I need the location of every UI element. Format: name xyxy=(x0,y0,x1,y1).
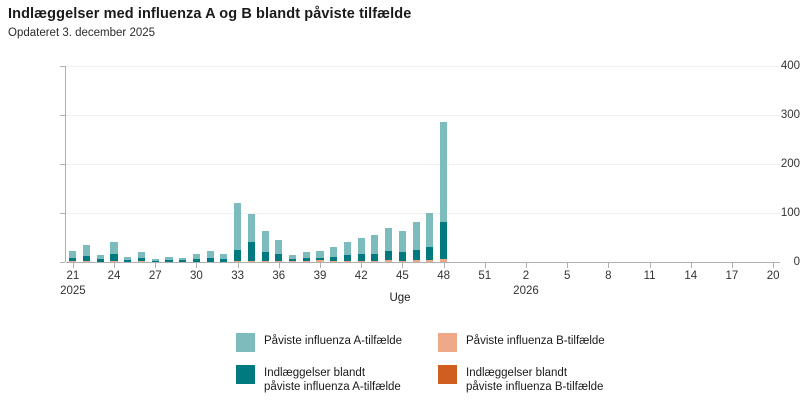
chart-legend: Påviste influenza A-tilfældePåviste infl… xyxy=(236,333,676,403)
bar-segment-flu-a-cases[interactable] xyxy=(83,245,90,256)
page-title: Indlæggelser med influenza A og B blandt… xyxy=(8,6,411,22)
bar-segment-flu-a-cases[interactable] xyxy=(220,254,227,259)
x-tick-mark xyxy=(114,263,115,268)
bar-segment-flu-a-cases[interactable] xyxy=(234,203,241,250)
bar-segment-flu-a-cases[interactable] xyxy=(330,247,337,256)
bar-segment-flu-a-cases[interactable] xyxy=(152,259,159,260)
bar-segment-flu-a-hospitalizations[interactable] xyxy=(83,256,90,261)
bar-group[interactable] xyxy=(330,66,337,262)
bar-segment-flu-a-cases[interactable] xyxy=(275,240,282,254)
bars-layer xyxy=(66,66,780,262)
gridline xyxy=(66,164,780,165)
x-tick-label: 27 xyxy=(149,270,162,282)
bar-segment-flu-a-cases[interactable] xyxy=(248,214,255,242)
bar-segment-flu-a-hospitalizations[interactable] xyxy=(193,259,200,262)
x-tick-label: 20 xyxy=(767,270,780,282)
bar-segment-flu-a-hospitalizations[interactable] xyxy=(207,258,214,261)
x-tick-mark xyxy=(444,263,445,268)
bar-segment-flu-b-cases[interactable] xyxy=(344,261,351,262)
bar-segment-flu-a-cases[interactable] xyxy=(69,251,76,258)
x-tick-mark xyxy=(650,263,651,268)
legend-label: Påviste influenza A-tilfælde xyxy=(264,333,402,349)
bar-segment-flu-a-hospitalizations[interactable] xyxy=(426,247,433,260)
bar-segment-flu-a-cases[interactable] xyxy=(110,242,117,254)
x-tick-mark xyxy=(73,263,74,268)
bar-group[interactable] xyxy=(179,66,186,262)
bar-segment-flu-a-cases[interactable] xyxy=(179,258,186,260)
y-tick-mark xyxy=(60,115,65,116)
bar-segment-flu-a-cases[interactable] xyxy=(440,122,447,222)
bar-segment-flu-a-hospitalizations[interactable] xyxy=(399,252,406,260)
bar-segment-flu-b-cases[interactable] xyxy=(358,261,365,262)
bar-segment-flu-a-cases[interactable] xyxy=(193,254,200,259)
y-tick-mark xyxy=(60,213,65,214)
bar-segment-flu-b-cases[interactable] xyxy=(399,261,406,262)
bar-segment-flu-a-hospitalizations[interactable] xyxy=(358,254,365,261)
bar-segment-flu-a-cases[interactable] xyxy=(385,228,392,251)
bar-segment-flu-b-cases[interactable] xyxy=(83,261,90,262)
bar-segment-flu-a-hospitalizations[interactable] xyxy=(330,257,337,261)
x-tick-mark xyxy=(196,263,197,268)
x-tick-label: 5 xyxy=(564,270,570,282)
bar-segment-flu-a-hospitalizations[interactable] xyxy=(413,250,420,260)
legend-swatch-icon xyxy=(236,365,255,384)
bar-segment-flu-a-hospitalizations[interactable] xyxy=(124,260,131,262)
bar-group[interactable] xyxy=(275,66,282,262)
gridline xyxy=(66,115,780,116)
x-tick-mark xyxy=(155,263,156,268)
bar-segment-flu-a-hospitalizations[interactable] xyxy=(97,259,104,261)
bar-segment-flu-b-cases[interactable] xyxy=(440,259,447,262)
x-tick-mark xyxy=(732,263,733,268)
bar-segment-flu-a-cases[interactable] xyxy=(399,231,406,253)
y-tick-mark xyxy=(60,164,65,165)
x-tick-label: 17 xyxy=(726,270,739,282)
x-tick-label: 45 xyxy=(396,270,409,282)
x-tick-label: 51 xyxy=(478,270,491,282)
legend-item[interactable]: Påviste influenza A-tilfælde xyxy=(236,333,402,352)
x-tick-mark xyxy=(238,263,239,268)
bar-group[interactable] xyxy=(303,66,310,262)
legend-swatch-icon xyxy=(438,365,457,384)
bar-segment-flu-a-cases[interactable] xyxy=(426,213,433,247)
bar-segment-flu-b-cases[interactable] xyxy=(110,261,117,262)
gridline xyxy=(66,66,780,67)
x-tick-label: 42 xyxy=(355,270,368,282)
bar-segment-flu-a-hospitalizations[interactable] xyxy=(179,260,186,261)
bar-segment-flu-a-cases[interactable] xyxy=(165,257,172,260)
legend-label: Indlæggelser blandt påviste influenza A-… xyxy=(264,365,401,394)
bar-segment-flu-b-cases[interactable] xyxy=(385,260,392,262)
x-axis-line xyxy=(66,262,780,263)
bar-segment-flu-a-hospitalizations[interactable] xyxy=(289,259,296,261)
bar-group[interactable] xyxy=(69,66,76,262)
x-tick-label: 48 xyxy=(437,270,450,282)
x-tick-mark xyxy=(567,263,568,268)
bar-group[interactable] xyxy=(289,66,296,262)
x-tick-label: 24 xyxy=(108,270,121,282)
bar-segment-flu-b-cases[interactable] xyxy=(289,261,296,262)
x-tick-label: 11 xyxy=(644,270,656,282)
x-tick-mark xyxy=(773,263,774,268)
y-tick-mark xyxy=(60,262,65,263)
x-tick-mark xyxy=(691,263,692,268)
bar-group[interactable] xyxy=(262,66,269,262)
bar-segment-flu-b-cases[interactable] xyxy=(316,260,323,262)
x-tick-label: 8 xyxy=(605,270,611,282)
bar-segment-flu-a-cases[interactable] xyxy=(358,238,365,254)
bar-group[interactable] xyxy=(124,66,131,262)
bar-group[interactable] xyxy=(220,66,227,262)
bar-segment-flu-a-hospitalizations[interactable] xyxy=(110,254,117,260)
bar-segment-flu-a-cases[interactable] xyxy=(413,222,420,249)
bar-segment-flu-a-hospitalizations[interactable] xyxy=(234,250,241,261)
bar-segment-flu-a-hospitalizations[interactable] xyxy=(385,251,392,260)
x-tick-mark xyxy=(608,263,609,268)
bar-segment-flu-a-hospitalizations[interactable] xyxy=(138,258,145,261)
legend-item[interactable]: Indlæggelser blandt påviste influenza A-… xyxy=(236,365,401,394)
bar-segment-flu-a-cases[interactable] xyxy=(138,252,145,258)
bar-group[interactable] xyxy=(440,66,447,262)
bar-segment-flu-b-cases[interactable] xyxy=(371,261,378,262)
bar-segment-flu-b-cases[interactable] xyxy=(413,260,420,262)
bar-group[interactable] xyxy=(413,66,420,262)
bar-group[interactable] xyxy=(399,66,406,262)
bar-group[interactable] xyxy=(193,66,200,262)
bar-segment-flu-a-hospitalizations[interactable] xyxy=(165,260,172,261)
x-tick-mark xyxy=(485,263,486,268)
bar-group[interactable] xyxy=(358,66,365,262)
bar-segment-flu-a-hospitalizations[interactable] xyxy=(248,242,255,261)
x-tick-label: 36 xyxy=(272,270,285,282)
bar-group[interactable] xyxy=(207,66,214,262)
x-tick-mark xyxy=(526,263,527,268)
bar-segment-flu-a-hospitalizations[interactable] xyxy=(275,254,282,261)
bar-group[interactable] xyxy=(165,66,172,262)
x-tick-mark xyxy=(402,263,403,268)
bar-group[interactable] xyxy=(385,66,392,262)
x-tick-label: 39 xyxy=(314,270,327,282)
y-tick-mark xyxy=(60,66,65,67)
legend-item[interactable]: Indlæggelser blandt påviste influenza B-… xyxy=(438,365,603,394)
bar-group[interactable] xyxy=(110,66,117,262)
legend-swatch-icon xyxy=(236,333,255,352)
bar-segment-flu-a-hospitalizations[interactable] xyxy=(344,255,351,260)
bar-segment-flu-a-hospitalizations[interactable] xyxy=(69,258,76,261)
bar-group[interactable] xyxy=(152,66,159,262)
x-tick-label: 14 xyxy=(684,270,697,282)
bar-segment-flu-a-cases[interactable] xyxy=(344,242,351,255)
x-tick-mark xyxy=(361,263,362,268)
legend-item[interactable]: Påviste influenza B-tilfælde xyxy=(438,333,605,352)
legend-label: Påviste influenza B-tilfælde xyxy=(466,333,605,349)
bar-segment-flu-a-hospitalizations[interactable] xyxy=(371,254,378,261)
x-tick-mark xyxy=(279,263,280,268)
bar-group[interactable] xyxy=(426,66,433,262)
bar-segment-flu-a-hospitalizations[interactable] xyxy=(316,258,323,260)
bar-segment-flu-b-cases[interactable] xyxy=(330,261,337,262)
chart-subtitle: Opdateret 3. december 2025 xyxy=(8,27,155,39)
bar-segment-flu-b-cases[interactable] xyxy=(426,260,433,262)
bar-segment-flu-a-hospitalizations[interactable] xyxy=(440,222,447,259)
legend-swatch-icon xyxy=(438,333,457,352)
bar-segment-flu-b-cases[interactable] xyxy=(303,261,310,262)
x-axis-label: Uge xyxy=(0,292,800,304)
bar-segment-flu-a-cases[interactable] xyxy=(97,255,104,259)
bar-group[interactable] xyxy=(83,66,90,262)
bar-segment-flu-a-hospitalizations[interactable] xyxy=(303,258,310,260)
bar-segment-flu-a-cases[interactable] xyxy=(316,251,323,258)
chart-container: Indlæggelser med influenza A og B blandt… xyxy=(0,0,800,409)
bar-group[interactable] xyxy=(97,66,104,262)
bar-group[interactable] xyxy=(138,66,145,262)
x-tick-label: 21 xyxy=(66,270,79,282)
bar-segment-flu-a-cases[interactable] xyxy=(262,231,269,253)
gridline xyxy=(66,213,780,214)
plot-area: 0100200300400 Antal personer 21202524273… xyxy=(0,55,800,280)
bar-segment-flu-a-cases[interactable] xyxy=(371,235,378,254)
x-tick-label: 2 xyxy=(523,270,529,282)
bar-segment-flu-a-cases[interactable] xyxy=(289,255,296,259)
bar-group[interactable] xyxy=(234,66,241,262)
bar-group[interactable] xyxy=(248,66,255,262)
bar-segment-flu-a-hospitalizations[interactable] xyxy=(262,252,269,261)
x-tick-mark xyxy=(320,263,321,268)
bar-segment-flu-a-cases[interactable] xyxy=(207,251,214,258)
bar-group[interactable] xyxy=(371,66,378,262)
legend-label: Indlæggelser blandt påviste influenza B-… xyxy=(466,365,603,394)
x-tick-label: 33 xyxy=(231,270,244,282)
bar-segment-flu-a-cases[interactable] xyxy=(124,257,131,260)
bar-group[interactable] xyxy=(316,66,323,262)
bar-segment-flu-a-cases[interactable] xyxy=(303,252,310,258)
bar-segment-flu-a-hospitalizations[interactable] xyxy=(220,259,227,261)
bar-group[interactable] xyxy=(344,66,351,262)
x-tick-label: 30 xyxy=(190,270,203,282)
